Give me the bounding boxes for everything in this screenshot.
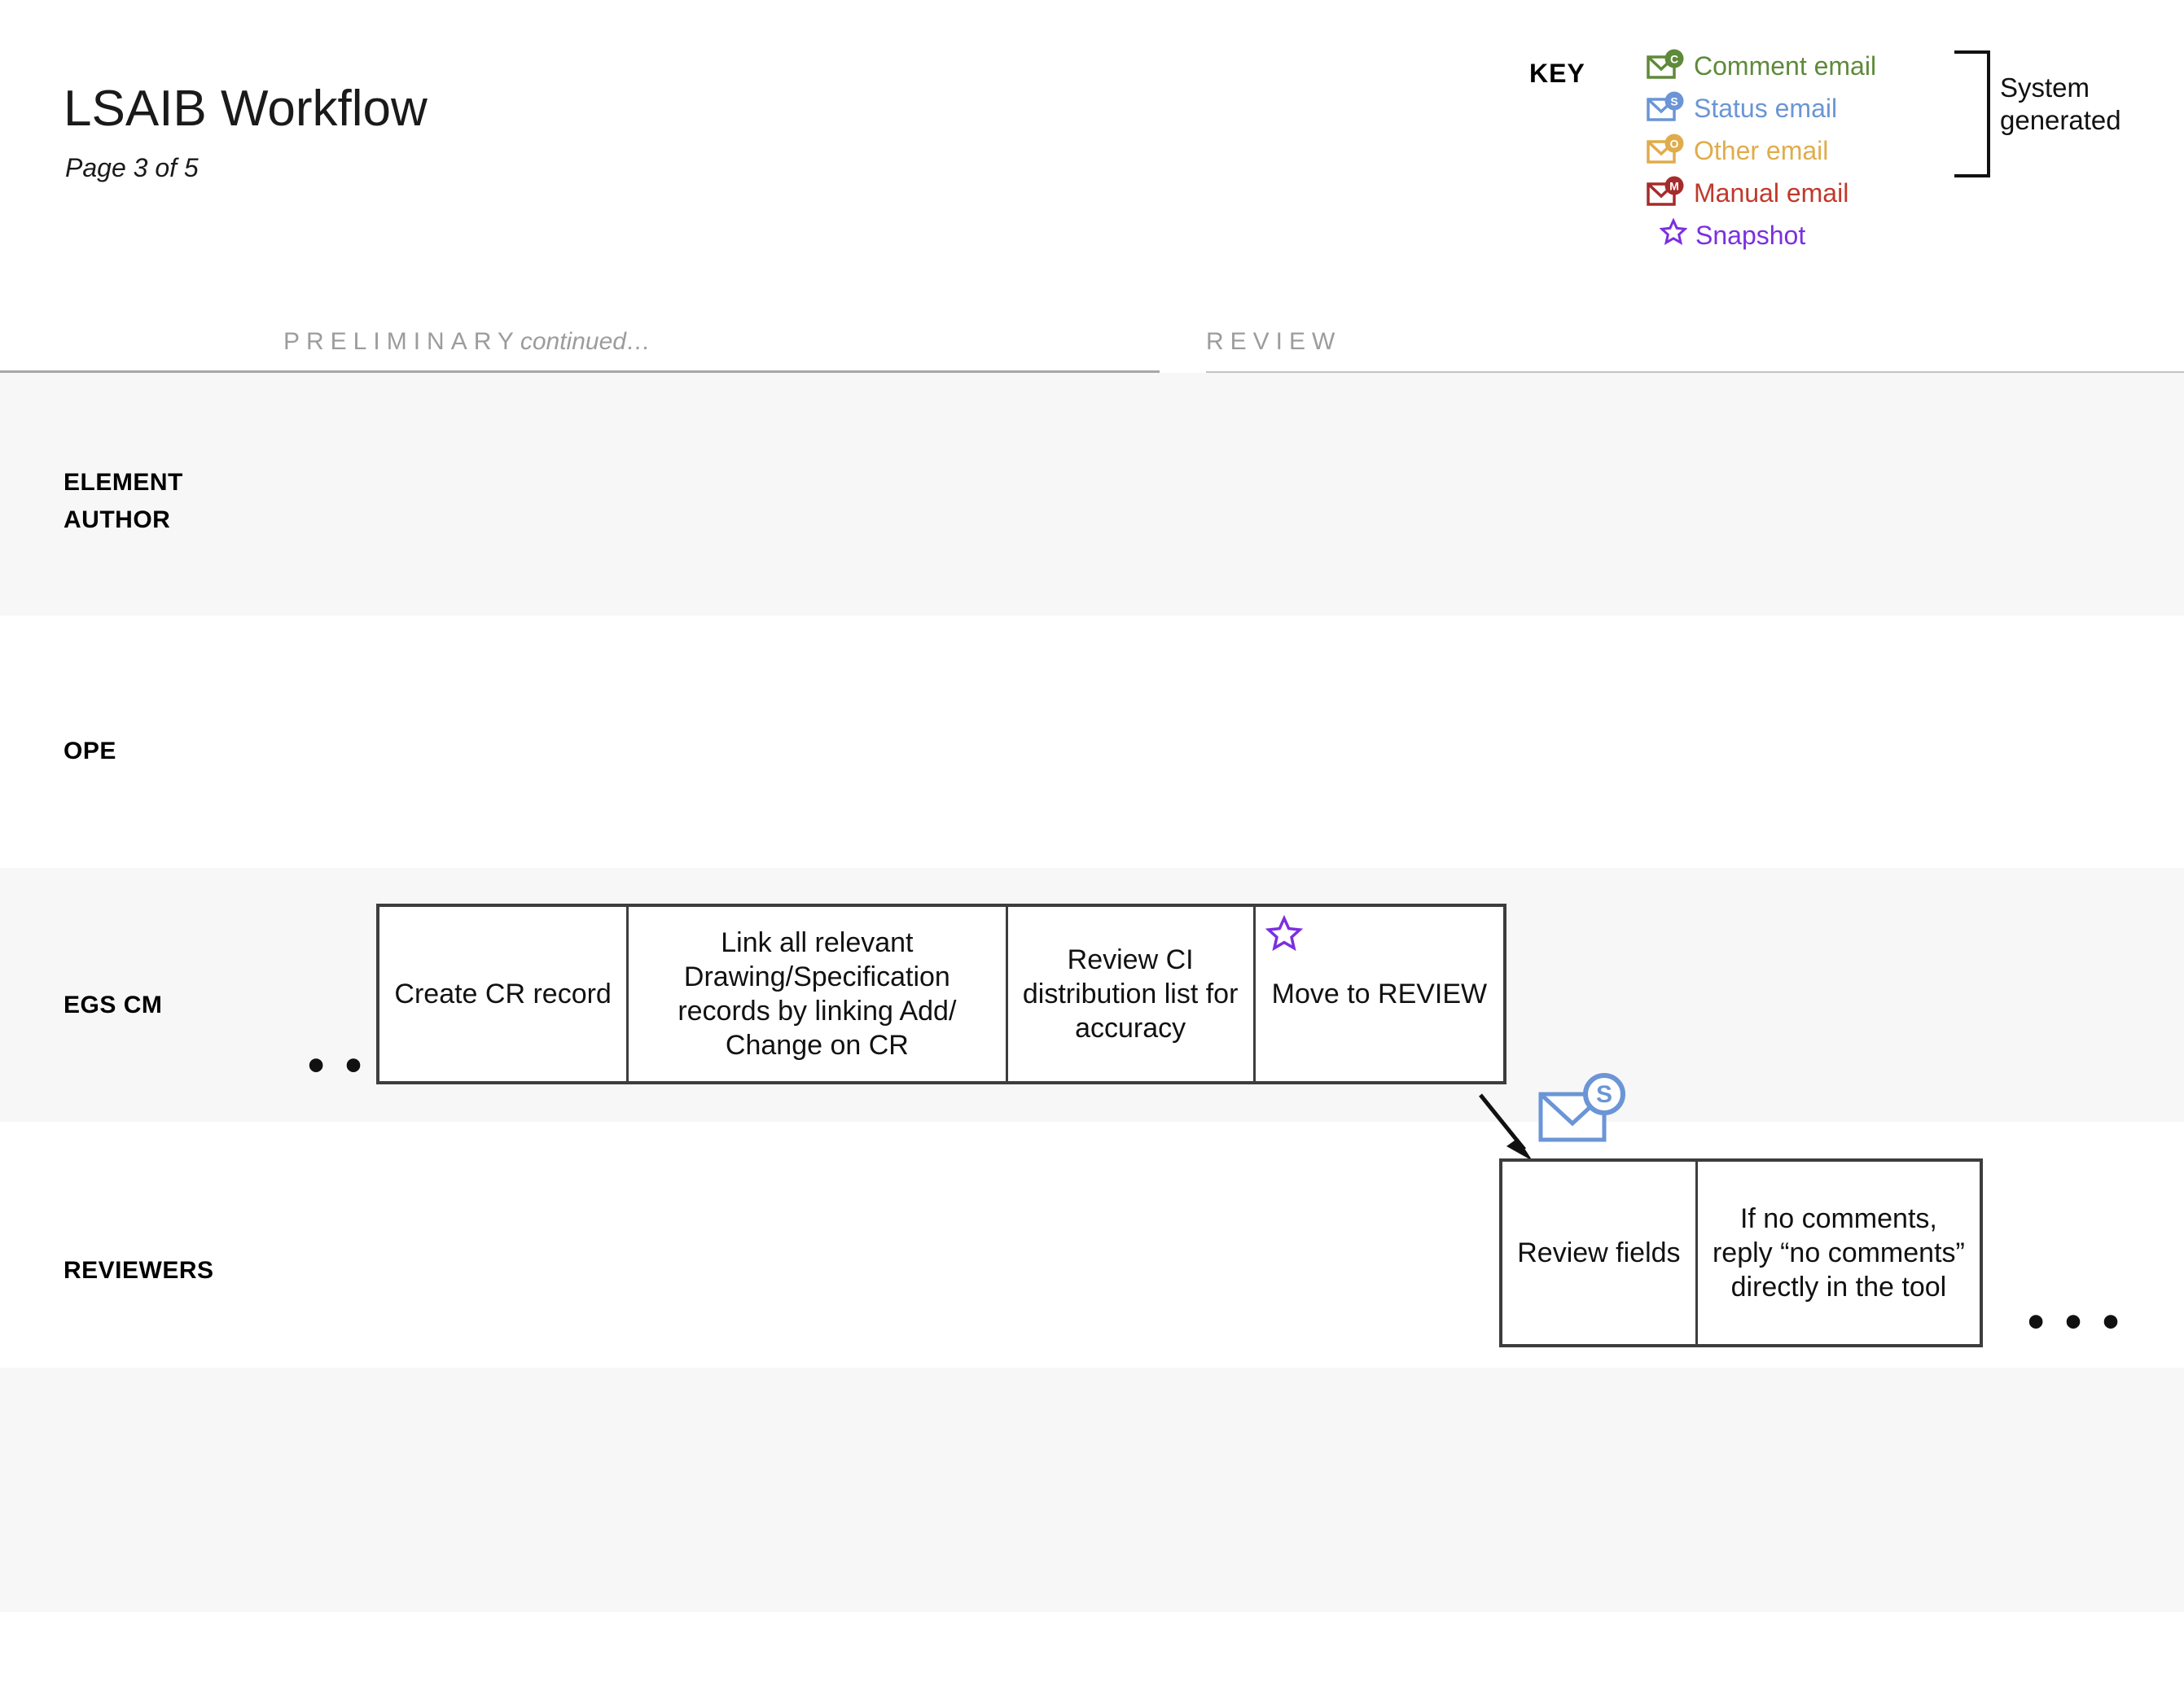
lane-label-ope: OPE <box>64 733 116 770</box>
phase-name: REVIEW <box>1206 328 1341 355</box>
lane-spacer-bottom <box>0 1368 2184 1612</box>
phase-continued: continued… <box>520 328 651 355</box>
process-box-reply-no-comments[interactable]: If no comments, reply “no comments” dire… <box>1698 1162 1980 1344</box>
other-email-icon: O <box>1647 134 1686 168</box>
system-generated-label: System generated <box>2000 72 2121 137</box>
legend-label: Other email <box>1694 138 1828 164</box>
process-box-review-fields[interactable]: Review fields <box>1502 1162 1698 1344</box>
legend-item-other-email: O Other email <box>1647 129 1989 172</box>
legend-label: Snapshot <box>1695 222 1805 248</box>
process-box-move-to-review[interactable]: Move to REVIEW <box>1256 907 1503 1081</box>
svg-text:C: C <box>1670 53 1678 66</box>
workflow-page: LSAIB Workflow Page 3 of 5 KEY C Comment… <box>0 0 2184 1686</box>
page-indicator: Page 3 of 5 <box>65 153 199 183</box>
key-heading: KEY <box>1529 59 1585 89</box>
legend-label: Manual email <box>1694 180 1849 206</box>
process-box-create-cr-record[interactable]: Create CR record <box>379 907 629 1081</box>
svg-text:S: S <box>1596 1081 1612 1108</box>
system-generated-bracket <box>1954 50 1990 177</box>
comment-email-icon: C <box>1647 49 1686 83</box>
svg-text:O: O <box>1670 138 1679 151</box>
status-email-icon: S <box>1647 91 1686 125</box>
lane-element-author: ELEMENT AUTHOR <box>0 373 2184 615</box>
svg-text:S: S <box>1670 95 1677 108</box>
snapshot-star-icon <box>1265 915 1303 952</box>
lane-label-element-author: ELEMENT AUTHOR <box>64 464 183 539</box>
phase-name: PRELIMINARY <box>283 328 520 355</box>
status-email-icon: S <box>1537 1073 1635 1154</box>
process-box-label: Move to REVIEW <box>1272 977 1488 1011</box>
process-box-review-ci-distribution-list[interactable]: Review CI distribution list for accuracy <box>1008 907 1256 1081</box>
legend-item-manual-email: M Manual email <box>1647 172 1989 214</box>
manual-email-icon: M <box>1647 176 1686 210</box>
legend-label: Comment email <box>1694 53 1876 79</box>
lane-label-reviewers: REVIEWERS <box>64 1252 214 1290</box>
page-title: LSAIB Workflow <box>64 80 428 138</box>
continuation-marker-right: • • • <box>2028 1298 2125 1346</box>
process-box-link-records[interactable]: Link all relevant Drawing/Specification … <box>629 907 1007 1081</box>
phase-header-preliminary: PRELIMINARYcontinued… <box>283 328 651 356</box>
legend-item-comment-email: C Comment email <box>1647 45 1989 87</box>
lane-label-egs-cm: EGS CM <box>64 987 162 1024</box>
egs-cm-step-group: Create CR record Link all relevant Drawi… <box>376 904 1506 1084</box>
legend-item-snapshot: Snapshot <box>1647 214 1989 256</box>
legend-item-status-email: S Status email <box>1647 87 1989 129</box>
snapshot-star-icon <box>1660 218 1687 252</box>
phase-header-review: REVIEW <box>1206 328 1341 356</box>
lane-ope: OPE <box>0 615 2184 868</box>
legend: C Comment email S Status email <box>1647 45 1989 256</box>
svg-text:M: M <box>1669 180 1679 193</box>
reviewers-step-group: Review fields If no comments, reply “no … <box>1499 1158 1983 1347</box>
legend-label: Status email <box>1694 95 1837 121</box>
